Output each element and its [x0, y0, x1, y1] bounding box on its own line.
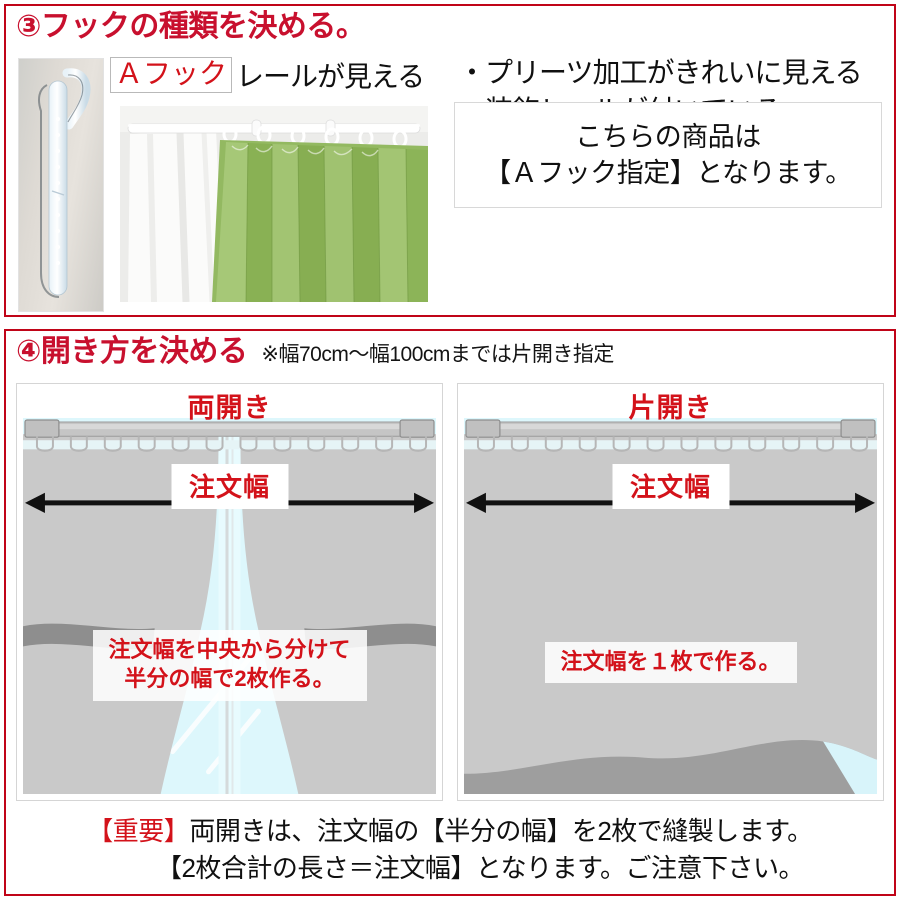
bullet-item: ・プリーツ加工がきれいに見える [458, 54, 888, 92]
panel-single-open: 片開き [457, 383, 884, 801]
a-hook-tag: Ａフック [110, 57, 232, 92]
caption-line-1: 注文幅を中央から分けて [108, 635, 350, 664]
note-line-2: 【Ａフック指定】となります。 [484, 155, 852, 191]
open-type-panels: 両開き [16, 383, 884, 801]
a-hook-tag-description: レールが見える [236, 55, 424, 95]
section-open-header: ④開き方を決める ※幅70cm〜幅100cmまでは片開き指定 [6, 331, 894, 370]
important-line-2: 【2枚合計の長さ＝注文幅】となります。ご注意下さい。 [16, 850, 884, 887]
important-note: 【重要】両開きは、注文幅の【半分の幅】を2枚で縫製します。 【2枚合計の長さ＝注… [16, 813, 884, 887]
single-open-caption: 注文幅を１枚で作る。 [544, 642, 796, 683]
caption-line-2: 半分の幅で2枚作る。 [108, 664, 350, 693]
double-open-caption: 注文幅を中央から分けて 半分の幅で2枚作る。 [92, 630, 366, 701]
panel-single-open-title: 片開き [458, 386, 883, 425]
green-curtain-illustration [120, 106, 428, 302]
caption-line-1: 注文幅を１枚で作る。 [560, 647, 780, 676]
a-hook-photo [18, 58, 104, 312]
section-open-heading: ④開き方を決める [16, 335, 247, 368]
a-hook-note-box: こちらの商品は 【Ａフック指定】となります。 [454, 102, 882, 208]
double-open-dimension-label: 注文幅 [171, 464, 288, 509]
section-hook-body: Ａフック レールが見える ・プリーツ加工がきれいに見える ・装飾レールが付いてい… [14, 54, 888, 309]
green-curtain-photo [120, 106, 428, 302]
section-hook-header: ③フックの種類を決める。 [6, 6, 894, 45]
important-line-1: 【重要】両開きは、注文幅の【半分の幅】を2枚で縫製します。 [16, 813, 884, 850]
infographic-page: ③フックの種類を決める。 [0, 0, 900, 900]
section-hook-type: ③フックの種類を決める。 [4, 4, 896, 317]
section-open-heading-note: ※幅70cm〜幅100cmまでは片開き指定 [261, 338, 613, 368]
section-open-type: ④開き方を決める ※幅70cm〜幅100cmまでは片開き指定 両開き [4, 329, 896, 896]
important-keyword: 【重要】 [87, 816, 189, 846]
note-line-1: こちらの商品は [575, 119, 761, 155]
a-hook-illustration [19, 59, 103, 311]
section-hook-heading: ③フックの種類を決める。 [16, 10, 365, 43]
panel-double-open-title: 両開き [17, 386, 442, 425]
single-open-dimension-label: 注文幅 [612, 464, 729, 509]
panel-double-open: 両開き [16, 383, 443, 801]
important-text-1: 両開きは、注文幅の【半分の幅】を2枚で縫製します。 [189, 816, 812, 846]
